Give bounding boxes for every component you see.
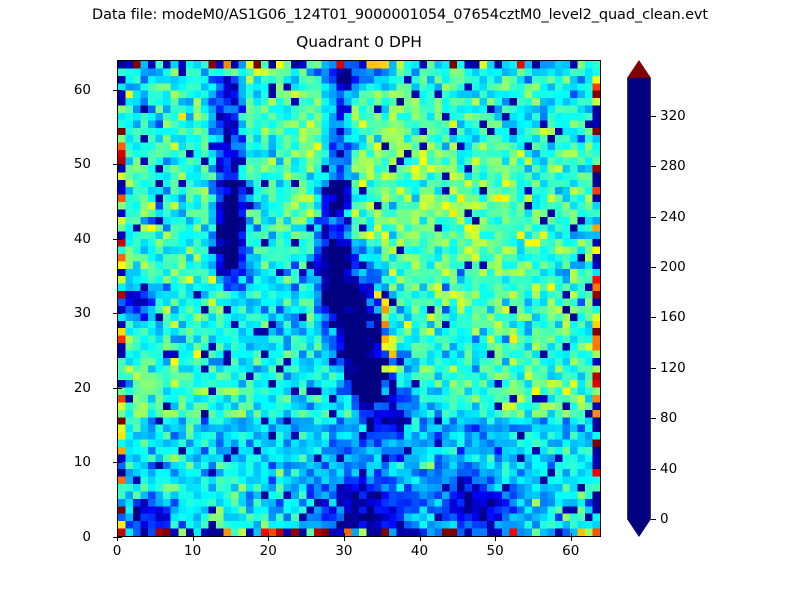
y-tick-inner-30 bbox=[118, 313, 122, 314]
x-tick-label-20: 20 bbox=[260, 543, 277, 559]
y-tick-inner-0 bbox=[118, 537, 122, 538]
x-tick-inner-10 bbox=[193, 533, 194, 537]
colorbar-tick-80 bbox=[651, 418, 656, 419]
y-tick-label-30: 30 bbox=[74, 305, 91, 321]
colorbar-tick-label-160: 160 bbox=[660, 309, 686, 325]
colorbar-tick-label-80: 80 bbox=[660, 410, 677, 426]
y-tick-inner-10 bbox=[118, 462, 122, 463]
y-tick-0 bbox=[113, 537, 117, 538]
colorbar-tick-200 bbox=[651, 267, 656, 268]
y-tick-label-0: 0 bbox=[82, 529, 91, 545]
colorbar-tick-label-0: 0 bbox=[660, 511, 669, 527]
x-tick-inner-40 bbox=[420, 533, 421, 537]
x-tick-inner-50 bbox=[495, 533, 496, 537]
x-tick-inner-60 bbox=[571, 533, 572, 537]
y-tick-10 bbox=[113, 462, 117, 463]
x-tick-60 bbox=[571, 537, 572, 541]
colorbar-tick-label-320: 320 bbox=[660, 108, 686, 124]
x-tick-50 bbox=[495, 537, 496, 541]
y-tick-inner-50 bbox=[118, 164, 122, 165]
y-tick-60 bbox=[113, 90, 117, 91]
colorbar-tick-label-120: 120 bbox=[660, 360, 686, 376]
colorbar-extend-min-arrow bbox=[627, 519, 651, 537]
x-tick-label-30: 30 bbox=[335, 543, 352, 559]
y-tick-inner-40 bbox=[118, 239, 122, 240]
colorbar-tick-120 bbox=[651, 368, 656, 369]
y-tick-inner-20 bbox=[118, 388, 122, 389]
colorbar-tick-280 bbox=[651, 166, 656, 167]
data-file-suptitle: Data file: modeM0/AS1G06_124T01_90000010… bbox=[0, 7, 800, 23]
y-tick-label-20: 20 bbox=[74, 380, 91, 396]
x-tick-label-40: 40 bbox=[411, 543, 428, 559]
colorbar[interactable] bbox=[627, 60, 651, 537]
colorbar-tick-40 bbox=[651, 469, 656, 470]
x-tick-30 bbox=[344, 537, 345, 541]
y-tick-label-50: 50 bbox=[74, 156, 91, 172]
y-tick-label-60: 60 bbox=[74, 82, 91, 98]
y-tick-label-40: 40 bbox=[74, 231, 91, 247]
y-tick-50 bbox=[113, 164, 117, 165]
colorbar-tick-160 bbox=[651, 317, 656, 318]
x-tick-label-60: 60 bbox=[562, 543, 579, 559]
x-tick-label-10: 10 bbox=[184, 543, 201, 559]
y-tick-20 bbox=[113, 388, 117, 389]
colorbar-tick-label-200: 200 bbox=[660, 259, 686, 275]
x-tick-20 bbox=[268, 537, 269, 541]
x-tick-label-50: 50 bbox=[487, 543, 504, 559]
heatmap-axes[interactable] bbox=[117, 60, 601, 537]
y-tick-40 bbox=[113, 239, 117, 240]
colorbar-tick-label-40: 40 bbox=[660, 461, 677, 477]
colorbar-tick-0 bbox=[651, 519, 656, 520]
y-tick-inner-60 bbox=[118, 90, 122, 91]
colorbar-tick-label-280: 280 bbox=[660, 158, 686, 174]
colorbar-tick-label-240: 240 bbox=[660, 209, 686, 225]
x-tick-inner-20 bbox=[268, 533, 269, 537]
detector-heatmap-image[interactable] bbox=[118, 61, 600, 536]
colorbar-extend-max-arrow bbox=[627, 60, 651, 78]
x-tick-10 bbox=[193, 537, 194, 541]
colorbar-tick-320 bbox=[651, 116, 656, 117]
plot-title: Quadrant 0 DPH bbox=[117, 33, 601, 51]
colorbar-gradient bbox=[627, 78, 651, 519]
x-tick-inner-30 bbox=[344, 533, 345, 537]
y-tick-30 bbox=[113, 313, 117, 314]
figure-canvas: Data file: modeM0/AS1G06_124T01_90000010… bbox=[0, 0, 800, 600]
x-tick-40 bbox=[420, 537, 421, 541]
colorbar-tick-240 bbox=[651, 217, 656, 218]
y-tick-label-10: 10 bbox=[74, 454, 91, 470]
x-tick-label-0: 0 bbox=[113, 543, 122, 559]
